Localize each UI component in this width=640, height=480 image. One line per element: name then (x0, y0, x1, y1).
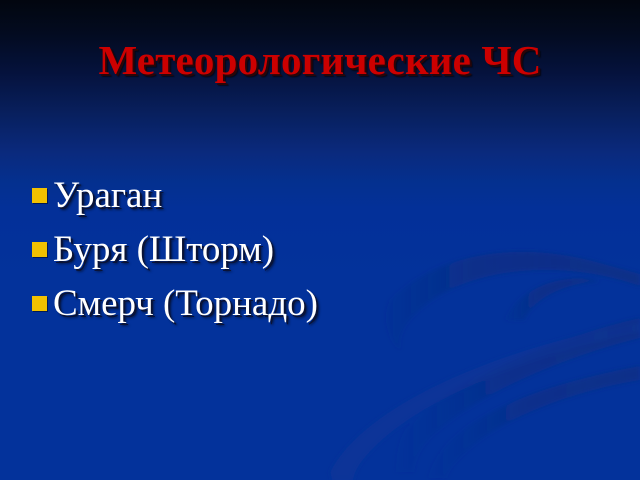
bullet-list: Ураган Буря (Шторм) Смерч (Торнадо) (32, 168, 608, 330)
square-bullet-icon (32, 296, 47, 311)
bullet-label: Смерч (Торнадо) (53, 285, 318, 322)
list-item: Ураган (32, 168, 608, 222)
list-item: Буря (Шторм) (32, 222, 608, 276)
presentation-slide: Метеорологические ЧС Ураган Буря (Шторм)… (0, 0, 640, 480)
list-item: Смерч (Торнадо) (32, 276, 608, 330)
square-bullet-icon (32, 242, 47, 257)
square-bullet-icon (32, 188, 47, 203)
slide-title: Метеорологические ЧС (0, 36, 640, 84)
bullet-label: Буря (Шторм) (53, 231, 274, 268)
bullet-label: Ураган (53, 177, 162, 214)
